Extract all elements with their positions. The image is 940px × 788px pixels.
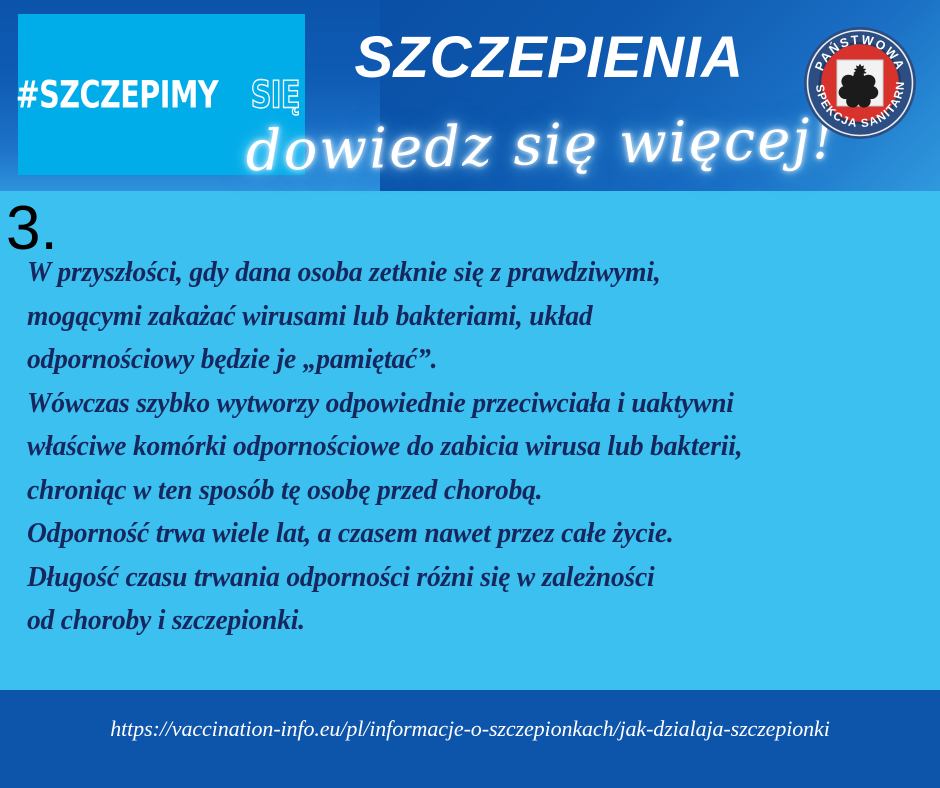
body-line: Odporność trwa wiele lat, a czasem nawet… [27,512,896,556]
page-title: SZCZEPIENIA [334,28,764,89]
body-line: mogącymi zakażać wirusami lub bakteriami… [27,295,896,339]
body-line: od choroby i szczepionki. [27,599,896,643]
hashtag-solid-part: #SZCZEPIMY [15,76,217,113]
body-line: odpornościowy będzie je „pamiętać”. [27,338,896,382]
hashtag-outline-part: SIĘ [251,76,300,113]
panstwowa-inspekcja-sanitarna-logo: PAŃSTWOWA INSPEKCJA SANITARNA [803,26,917,140]
source-url[interactable]: https://vaccination-info.eu/pl/informacj… [0,716,940,742]
body-line: chroniąc w ten sposób tę osobę przed cho… [27,469,896,513]
body-content: 3. W przyszłości, gdy dana osoba zetknie… [0,191,940,690]
body-line: Długość czasu trwania odporności różni s… [27,556,896,600]
body-line: Wówczas szybko wytworzy odpowiednie prze… [27,382,896,426]
body-line: W przyszłości, gdy dana osoba zetknie si… [27,251,896,295]
footer-bar: https://vaccination-info.eu/pl/informacj… [0,690,940,788]
hashtag-campaign-text: #SZCZEPIMYSIĘ [15,76,308,113]
body-line: właściwe komórki odpornościowe do zabici… [27,425,896,469]
poster-canvas: #SZCZEPIMYSIĘ SZCZEPIENIA dowiedz się wi… [0,0,940,788]
body-paragraph: W przyszłości, gdy dana osoba zetknie si… [27,251,927,643]
subtitle-script: dowiedz się więcej! [235,112,846,181]
